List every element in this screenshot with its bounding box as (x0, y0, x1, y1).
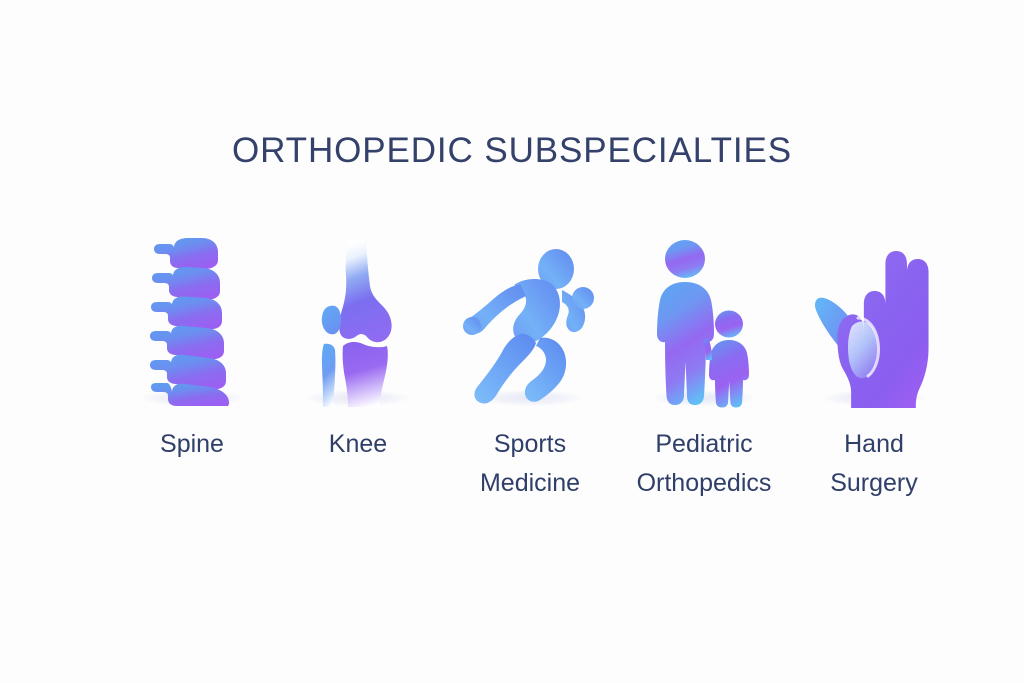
runner-rear-fist (572, 287, 594, 309)
specialty-label-pediatric-orthopedics: Pediatric Orthopedics (637, 425, 772, 503)
specialty-label-spine: Spine (160, 425, 224, 464)
specialty-item-hand-surgery[interactable]: Hand Surgery (794, 228, 954, 503)
child-head (715, 311, 743, 338)
fibula-shape (322, 344, 335, 407)
specialty-item-knee[interactable]: Knee (278, 228, 438, 464)
pediatric-icon-wrap (624, 228, 784, 408)
adult-head (665, 240, 705, 278)
hand-icon-wrap (794, 228, 954, 408)
specialty-item-spine[interactable]: Spine (112, 228, 272, 464)
specialty-label-sports-medicine: Sports Medicine (480, 425, 580, 503)
runner-front-fist (463, 317, 481, 335)
patella-shape (322, 306, 341, 335)
child-body (709, 340, 749, 408)
specialty-label-hand-surgery: Hand Surgery (830, 425, 918, 503)
femur-shape (339, 240, 391, 342)
knee-icon-wrap (278, 228, 438, 408)
running-person-icon (462, 248, 598, 408)
orthopedic-subspecialties-infographic: ORTHOPEDIC SUBSPECIALTIES (0, 0, 1024, 683)
open-hand-icon (814, 242, 934, 408)
specialty-label-knee: Knee (329, 425, 387, 464)
spine-icon-wrap (112, 228, 272, 408)
specialty-item-pediatric-orthopedics[interactable]: Pediatric Orthopedics (624, 228, 784, 503)
knee-joint-icon (310, 240, 406, 408)
page-title: ORTHOPEDIC SUBSPECIALTIES (0, 131, 1024, 171)
spine-icon (144, 236, 240, 408)
specialty-item-sports-medicine[interactable]: Sports Medicine (450, 228, 610, 503)
tibia-shape (343, 342, 388, 407)
sports-icon-wrap (450, 228, 610, 408)
specialty-list: Spine (112, 228, 912, 503)
adult-and-child-icon (648, 240, 760, 408)
